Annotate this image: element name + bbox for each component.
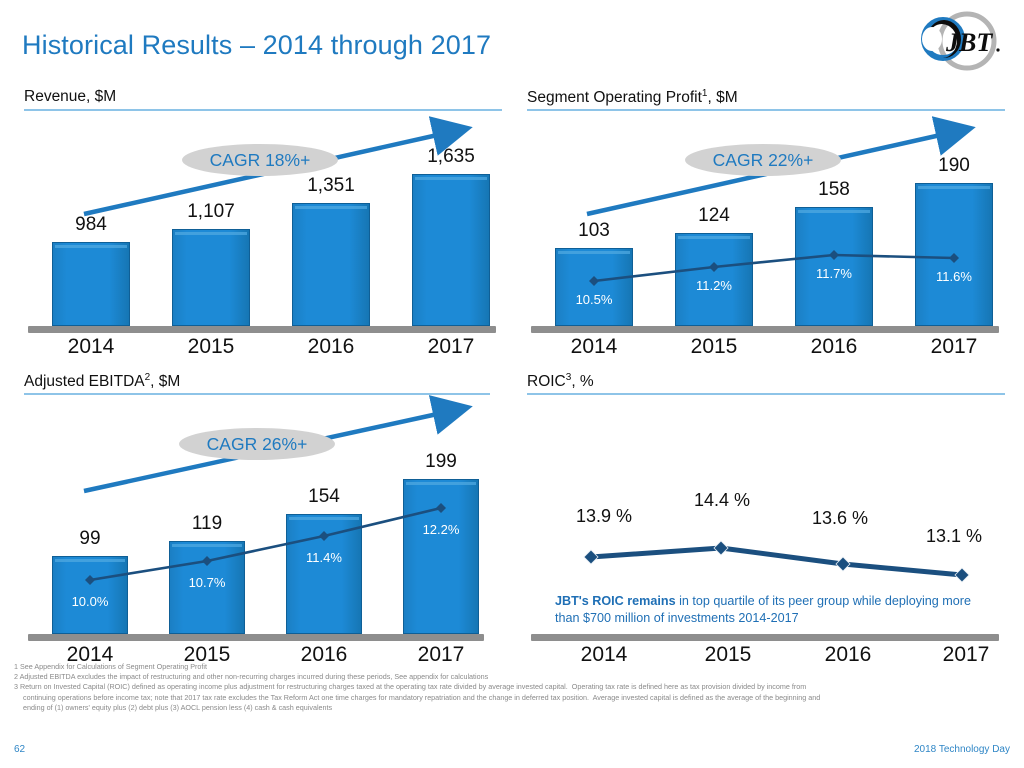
roic-baseline: [531, 634, 999, 641]
footnote-3-line-3: ending of (1) owners' equity plus (2) de…: [14, 703, 999, 713]
axis-label-revenue-2015: 2015: [172, 335, 250, 359]
panel-segment-profit-title-main: Segment Operating Profit: [527, 89, 702, 106]
footer-event-label: 2018 Technology Day: [914, 744, 1010, 755]
axis-label-revenue-2014: 2014: [52, 335, 130, 359]
bar-revenue-2015: [172, 229, 250, 326]
bar-pct-segment-profit-2017: 11.6%: [915, 269, 993, 284]
footnotes: 1 See Appendix for Calculations of Segme…: [14, 662, 999, 713]
panel-ebitda-title-main: Adjusted EBITDA: [24, 373, 145, 390]
axis-label-segment-profit-2015: 2015: [675, 335, 753, 359]
footnote-3-line-2: continuing operations before income tax;…: [14, 693, 999, 703]
revenue-cagr-badge: CAGR 18%+: [182, 144, 338, 176]
bar-value-revenue-2014: 984: [52, 214, 130, 236]
axis-label-segment-profit-2014: 2014: [555, 335, 633, 359]
panel-ebitda-title: Adjusted EBITDA2, $M: [24, 372, 180, 391]
panel-segment-profit: Segment Operating Profit1, $M CAGR 22%+ …: [527, 88, 1007, 358]
footnote-2: 2 Adjusted EBITDA excludes the impact of…: [14, 672, 999, 682]
panel-roic-title-tail: , %: [571, 373, 593, 390]
slide: Historical Results – 2014 through 2017 J…: [0, 0, 1024, 768]
footnote-1: 1 See Appendix for Calculations of Segme…: [14, 662, 999, 672]
chart-roic: 13.9 % 14.4 % 13.6 % 13.1 % JBT's ROIC r…: [527, 398, 1005, 643]
bar-pct-ebitda-2014: 10.0%: [52, 594, 128, 609]
panel-roic-rule: [527, 393, 1005, 395]
page-title: Historical Results – 2014 through 2017: [22, 30, 491, 61]
bar-pct-segment-profit-2015: 11.2%: [675, 278, 753, 293]
panel-roic-title-main: ROIC: [527, 373, 566, 390]
axis-label-revenue-2017: 2017: [412, 335, 490, 359]
bar-pct-segment-profit-2016: 11.7%: [795, 266, 873, 281]
bar-pct-segment-profit-2014: 10.5%: [555, 292, 633, 307]
ebitda-baseline: [28, 634, 484, 641]
bar-revenue-2017: [412, 174, 490, 326]
bar-value-revenue-2016: 1,351: [292, 175, 370, 197]
panel-ebitda-rule: [24, 393, 490, 395]
bar-pct-ebitda-2017: 12.2%: [403, 522, 479, 537]
panel-ebitda-title-tail: , $M: [150, 373, 180, 390]
panel-revenue-rule: [24, 109, 502, 111]
page-number: 62: [14, 744, 25, 755]
bar-value-revenue-2015: 1,107: [172, 201, 250, 223]
bar-pct-ebitda-2015: 10.7%: [169, 575, 245, 590]
panel-ebitda: Adjusted EBITDA2, $M CAGR 26%+ 99 119 15…: [24, 372, 504, 647]
chart-segment-profit: CAGR 22%+ 103 124 158 190 10.5% 1: [527, 114, 1005, 354]
jbt-logo-icon: JBT: [905, 10, 1013, 72]
bar-revenue-2014: [52, 242, 130, 326]
revenue-baseline: [28, 326, 496, 333]
panel-revenue: Revenue, $M CAGR 18%+ 984 1,107: [24, 88, 504, 358]
panel-revenue-title: Revenue, $M: [24, 88, 116, 106]
panel-roic-title: ROIC3, %: [527, 372, 594, 391]
chart-revenue: CAGR 18%+ 984 1,107 1,351 1,635 2014 201…: [24, 114, 502, 354]
panel-segment-profit-rule: [527, 109, 1005, 111]
chart-ebitda: CAGR 26%+ 99 119 154 199 10.0% 10.7%: [24, 398, 490, 643]
axis-label-revenue-2016: 2016: [292, 335, 370, 359]
bar-value-revenue-2017: 1,635: [412, 146, 490, 168]
segment-profit-margin-line: [527, 114, 1005, 354]
jbt-logo: JBT: [905, 10, 1013, 72]
svg-text:JBT: JBT: [945, 28, 993, 57]
footnote-3-line-1: 3 Return on Invested Capital (ROIC) defi…: [14, 682, 999, 692]
axis-label-segment-profit-2017: 2017: [915, 335, 993, 359]
bar-revenue-2016: [292, 203, 370, 326]
roic-callout-note: JBT's ROIC remains in top quartile of it…: [555, 593, 995, 627]
bar-pct-ebitda-2016: 11.4%: [286, 550, 362, 565]
segment-profit-baseline: [531, 326, 999, 333]
axis-label-segment-profit-2016: 2016: [795, 335, 873, 359]
panel-segment-profit-title-tail: , $M: [707, 89, 737, 106]
revenue-cagr-label: CAGR 18%+: [210, 150, 311, 171]
roic-callout-note-bold: JBT's ROIC remains: [555, 594, 676, 608]
panel-roic: ROIC3, % 13.9 % 14.4 % 13.6 % 13.1 % JBT…: [527, 372, 1007, 647]
panel-segment-profit-title: Segment Operating Profit1, $M: [527, 88, 738, 107]
